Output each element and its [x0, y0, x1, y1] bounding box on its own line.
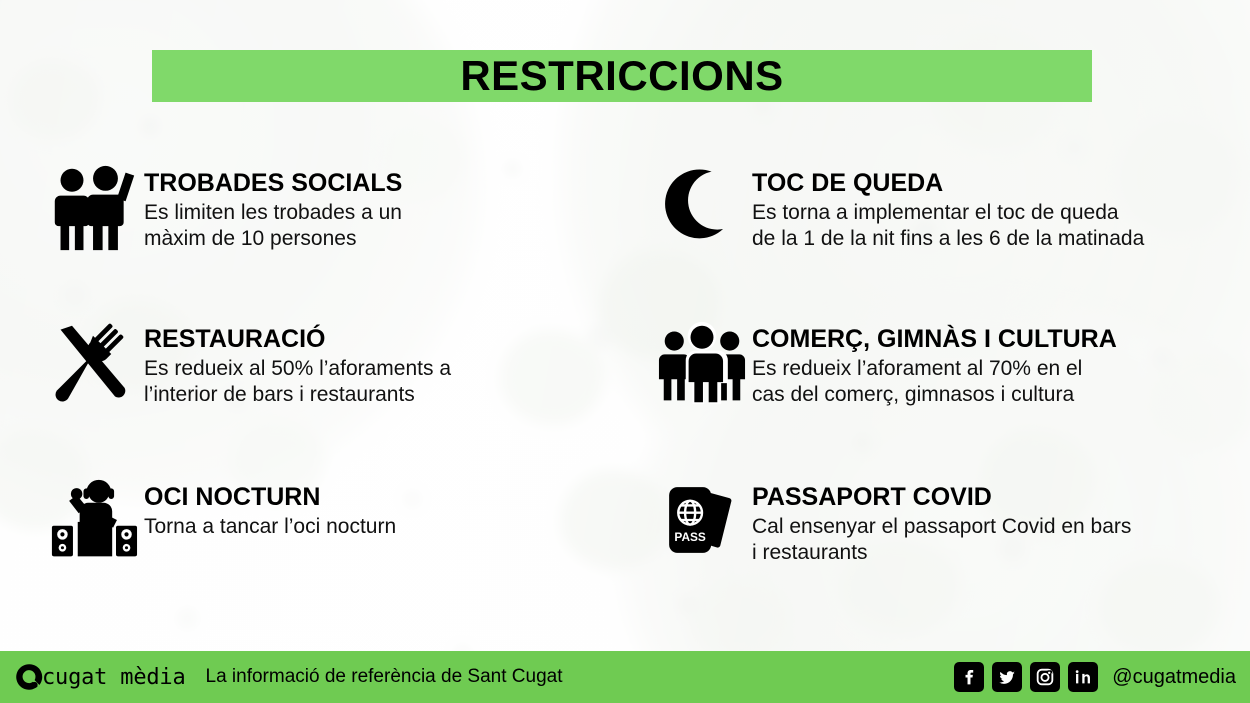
- restriction-text-block: TOC DE QUEDA Es torna a implementar el t…: [752, 162, 1144, 253]
- footer-tagline: La informació de referència de Sant Cuga…: [206, 666, 563, 688]
- group-of-people-icon: [652, 318, 752, 410]
- restriction-title: COMERÇ, GIMNÀS I CULTURA: [752, 326, 1117, 353]
- twitter-icon[interactable]: [992, 662, 1022, 692]
- restriction-text-block: PASSAPORT COVID Cal ensenyar el passapor…: [752, 474, 1131, 567]
- facebook-icon[interactable]: [954, 662, 984, 692]
- page-title: RESTRICCIONS: [460, 55, 783, 97]
- restriction-description-line: i restaurants: [752, 540, 1131, 567]
- crescent-moon-icon: [652, 162, 752, 254]
- instagram-icon[interactable]: [1030, 662, 1060, 692]
- restriction-title: PASSAPORT COVID: [752, 484, 1131, 511]
- restriction-description-line: Es torna a implementar el toc de queda: [752, 200, 1144, 227]
- cugat-media-logo[interactable]: cugat mèdia: [14, 662, 186, 692]
- cugat-logo-mark: [14, 662, 44, 692]
- restriction-text-block: TROBADES SOCIALS Es limiten les trobades…: [144, 162, 402, 253]
- restriction-description: Cal ensenyar el passaport Covid en bars …: [752, 514, 1131, 568]
- two-people-waving-icon: [44, 162, 144, 254]
- covid-passport-icon: PASS: [652, 474, 752, 566]
- restriction-text-block: COMERÇ, GIMNÀS I CULTURA Es redueix l’af…: [752, 318, 1117, 409]
- footer-social-group: @cugatmedia: [954, 662, 1236, 692]
- restriction-item-passaport-covid: PASS PASSAPORT COVID Cal ensenyar el pas…: [652, 474, 1131, 567]
- restriction-title: TROBADES SOCIALS: [144, 170, 402, 197]
- restriction-text-block: RESTAURACIÓ Es redueix al 50% l’aforamen…: [144, 318, 451, 409]
- restriction-description-line: l’interior de bars i restaurants: [144, 382, 451, 409]
- footer-bar: cugat mèdia La informació de referència …: [0, 651, 1250, 703]
- restriction-description-line: Cal ensenyar el passaport Covid en bars: [752, 514, 1131, 541]
- linkedin-icon[interactable]: [1068, 662, 1098, 692]
- restriction-description-line: Es redueix al 50% l’aforaments a: [144, 356, 451, 383]
- restriction-item-trobades-socials: TROBADES SOCIALS Es limiten les trobades…: [44, 162, 402, 254]
- restriction-description-line: de la 1 de la nit fins a les 6 de la mat…: [752, 226, 1144, 253]
- restriction-item-comerc-gimnas-cultura: COMERÇ, GIMNÀS I CULTURA Es redueix l’af…: [652, 318, 1117, 410]
- knife-and-fork-icon: [44, 318, 144, 410]
- restriction-item-toc-de-queda: TOC DE QUEDA Es torna a implementar el t…: [652, 162, 1144, 254]
- restriction-description-line: Torna a tancar l’oci nocturn: [144, 514, 396, 541]
- restriction-description: Es redueix al 50% l’aforaments a l’inter…: [144, 356, 451, 410]
- passport-pass-label: PASS: [674, 530, 706, 544]
- restriction-text-block: OCI NOCTURN Torna a tancar l’oci nocturn: [144, 474, 396, 540]
- restriction-description-line: cas del comerç, gimnasos i cultura: [752, 382, 1117, 409]
- restriction-item-restauracio: RESTAURACIÓ Es redueix al 50% l’aforamen…: [44, 318, 451, 410]
- restriction-description: Torna a tancar l’oci nocturn: [144, 514, 396, 541]
- footer-handle[interactable]: @cugatmedia: [1112, 666, 1236, 689]
- dj-speakers-icon: [44, 474, 144, 566]
- restriction-description: Es redueix l’aforament al 70% en el cas …: [752, 356, 1117, 410]
- restriction-item-oci-nocturn: OCI NOCTURN Torna a tancar l’oci nocturn: [44, 474, 396, 566]
- restrictions-list: TROBADES SOCIALS Es limiten les trobades…: [0, 150, 1250, 620]
- restriction-description-line: Es limiten les trobades a un: [144, 200, 402, 227]
- restriction-title: TOC DE QUEDA: [752, 170, 1144, 197]
- restriction-description: Es torna a implementar el toc de queda d…: [752, 200, 1144, 254]
- logo-wordmark: cugat mèdia: [42, 665, 186, 690]
- restriction-title: RESTAURACIÓ: [144, 326, 451, 353]
- restriction-title: OCI NOCTURN: [144, 484, 396, 511]
- page-title-bar: RESTRICCIONS: [152, 50, 1092, 102]
- restriction-description-line: Es redueix l’aforament al 70% en el: [752, 356, 1117, 383]
- restriction-description-line: màxim de 10 persones: [144, 226, 402, 253]
- restriction-description: Es limiten les trobades a un màxim de 10…: [144, 200, 402, 254]
